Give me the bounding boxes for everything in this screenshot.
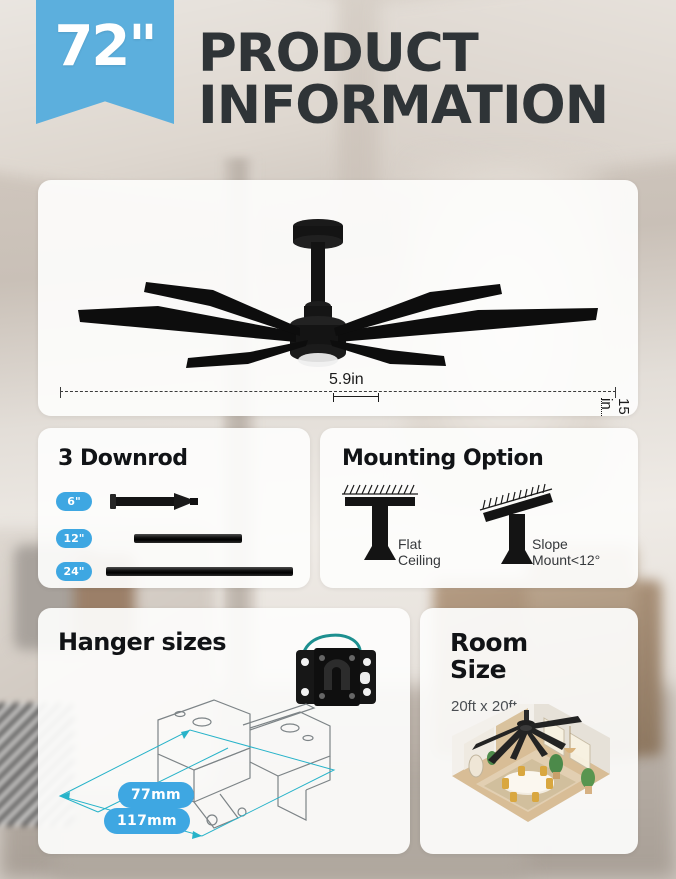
ribbon-size-label: 72" [54,14,155,79]
downrod-badge-12in: 12" [56,529,92,548]
mounting-card-title: Mounting Option [342,446,543,471]
mounting-diagrams [320,480,638,588]
downrod-row-12in: 12" [56,529,242,548]
slope-mount-label-line2: Mount<12° [532,552,600,568]
room-card-title-line2: Size [450,655,506,684]
slope-mount-label: Slope Mount<12° [532,536,600,568]
slope-mount-label-line1: Slope [532,536,568,552]
downrod-card-title: 3 Downrod [58,446,188,471]
canopy-width-label: 5.9in [329,371,364,389]
mounting-option-card: Mounting Option [320,428,638,588]
room-card-title-line1: Room [450,628,528,657]
fan-dimensions-card: 5.9in 6/12/24in 15.4/21.5/33.5 in 72in [38,180,638,416]
downrod-card: 3 Downrod 6" 12" 24" [38,428,310,588]
flat-ceiling-label: Flat Ceiling [398,536,441,568]
canopy-width-measure-line [333,396,379,397]
hanger-dimension-117mm: 117mm [104,808,190,834]
total-height-label: 15.4/21.5/33.5 in [598,398,632,416]
room-card-title: Room Size [450,630,528,683]
room-size-card: Room Size 20ft x 20ft [420,608,638,854]
blade-span-measure-line [60,391,616,392]
flat-ceiling-label-line2: Ceiling [398,552,441,568]
hanger-sizes-card: Hanger sizes [38,608,410,854]
header: 72" PRODUCT INFORMATION [0,0,676,160]
downrod-badge-24in: 24" [56,562,92,581]
downrod-row-6in: 6" [56,490,228,512]
downrod-image-6in [108,490,228,512]
size-ribbon-badge: 72" [36,0,174,124]
room-render-illustration [436,704,622,844]
downrod-image-12in [134,534,242,543]
downrod-badge-6in: 6" [56,492,92,511]
page-title-line2: INFORMATION [198,80,608,132]
hanger-card-title: Hanger sizes [58,628,226,656]
downrod-image-24in [106,567,293,576]
downrod-row-24in: 24" [56,562,293,581]
page-title: PRODUCT INFORMATION [198,28,608,132]
hanger-bracket-wireframe [38,678,410,848]
hanger-dimension-77mm: 77mm [118,782,194,808]
flat-ceiling-label-line1: Flat [398,536,421,552]
